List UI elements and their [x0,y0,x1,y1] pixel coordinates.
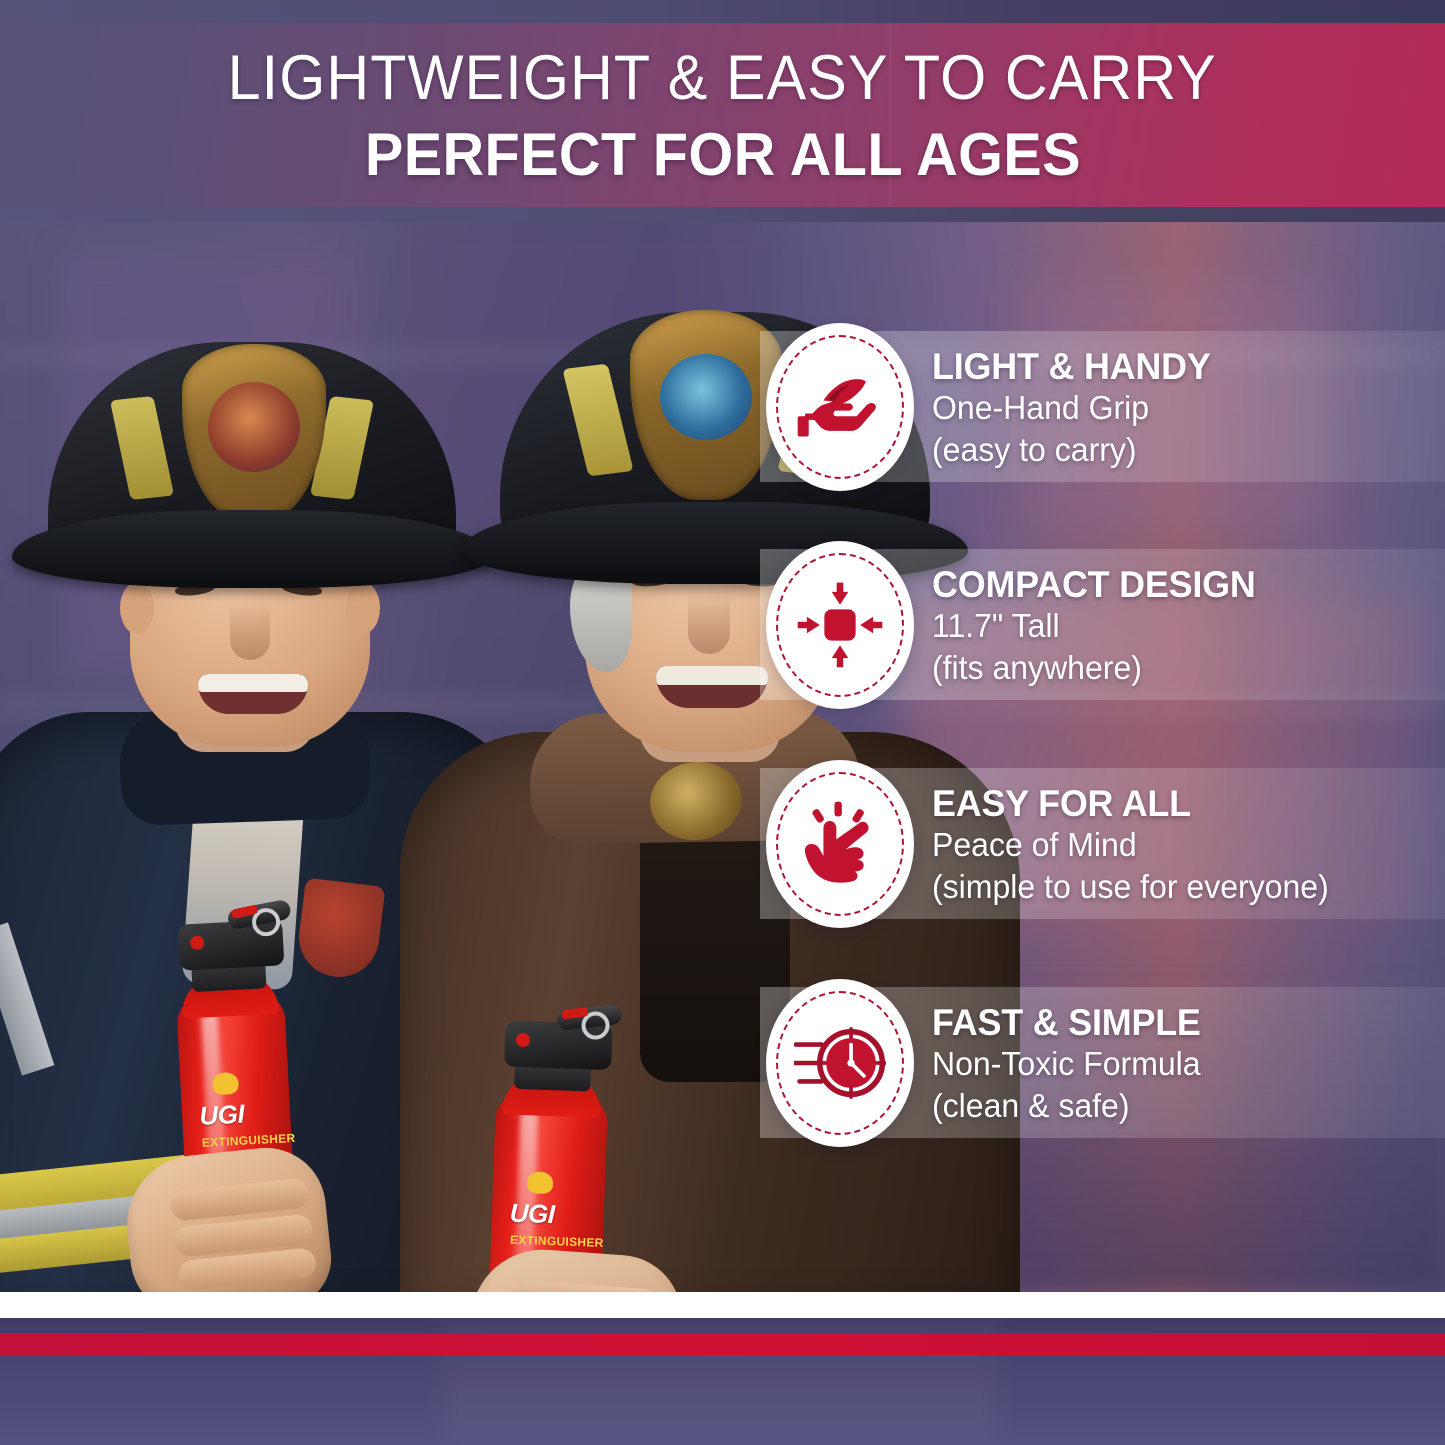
feature-4-line-2: (clean & safe) [932,1086,1430,1126]
feature-3-line-1: Peace of Mind [932,825,1430,865]
feature-compact-design: COMPACT DESIGN 11.7" Tall (fits anywhere… [766,540,1445,710]
extinguisher-left-flame-logo [212,1072,239,1095]
pointing-hand-tap-glyph [794,798,886,890]
extinguisher-right-flame-logo [526,1171,553,1194]
extinguisher-right-brand: UGI [509,1201,593,1229]
firefighter-right-nose [688,592,730,654]
feature-2-line-1: 11.7" Tall [932,606,1430,646]
compress-arrows-glyph [794,579,886,671]
header-banner: LIGHTWEIGHT & EASY TO CARRY PERFECT FOR … [0,23,1445,207]
footer-band [0,1318,1445,1445]
feature-1-line-1: One-Hand Grip [932,388,1430,428]
feature-2-line-2: (fits anywhere) [932,648,1430,688]
firefighter-left-ear-right [346,582,380,634]
feather-in-hand-glyph [794,361,886,453]
extinguisher-left-brand: UGI [199,1100,280,1129]
feature-fast-and-simple: FAST & SIMPLE Non-Toxic Formula (clean &… [766,978,1445,1148]
feature-2-title: COMPACT DESIGN [932,565,1430,604]
header-headline-primary: LIGHTWEIGHT & EASY TO CARRY [228,47,1217,110]
firefighter-right-smile [656,666,768,708]
pointing-hand-tap-icon [766,760,914,928]
firefighter-left-nose [230,602,270,660]
feature-1-line-2: (easy to carry) [932,430,1430,470]
feather-in-hand-icon [766,323,914,491]
fast-clock-glyph [794,1017,886,1109]
footer-red-stripe [0,1333,1445,1355]
feature-1-title: LIGHT & HANDY [932,347,1430,386]
feature-3-title: EASY FOR ALL [932,784,1430,823]
feature-easy-for-all: EASY FOR ALL Peace of Mind (simple to us… [766,759,1445,929]
fast-clock-icon [766,979,914,1147]
infographic-canvas: LIGHTWEIGHT & EASY TO CARRY PERFECT FOR … [0,0,1445,1445]
feature-4-title: FAST & SIMPLE [932,1003,1430,1042]
firefighter-left-smile [198,674,308,714]
header-bottom-strip [0,207,1445,222]
extinguisher-right-sublabel: EXTINGUISHER [510,1233,593,1250]
feature-light-and-handy: LIGHT & HANDY One-Hand Grip (easy to car… [766,322,1445,492]
top-accent-strip [0,0,1445,23]
header-headline-secondary: PERFECT FOR ALL AGES [365,125,1081,185]
lifestyle-photo: UGI EXTINGUISHER WJ620 130 UGI EXTINGUIS… [0,222,1445,1292]
feature-4-line-1: Non-Toxic Formula [932,1044,1430,1084]
compress-arrows-icon [766,541,914,709]
feature-3-line-2: (simple to use for everyone) [932,867,1430,907]
white-divider [0,1292,1445,1318]
firefighter-left-ear-left [120,582,154,634]
